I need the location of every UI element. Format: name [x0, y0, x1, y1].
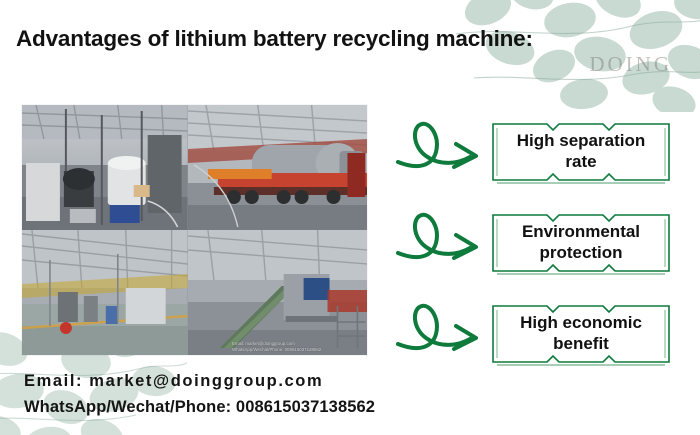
- looped-arrow-icon: [396, 294, 484, 374]
- eucalyptus-leaves-icon: [450, 0, 700, 112]
- advantage-box-high-separation-rate[interactable]: High separation rate: [490, 119, 672, 185]
- doing-watermark: DOING: [589, 52, 672, 77]
- photo-bottom-left: [22, 230, 188, 355]
- advantage-box-environmental-protection[interactable]: Environmental protection: [490, 210, 672, 276]
- advantage-label: High separation rate: [517, 131, 645, 172]
- contact-email: Email: market@doinggroup.com: [24, 372, 375, 391]
- advantage-label-line1: High separation: [517, 131, 645, 150]
- advantage-box-high-economic-benefit[interactable]: High economic benefit: [490, 301, 672, 367]
- contact-phone: WhatsApp/Wechat/Phone: 008615037138562: [24, 398, 375, 417]
- slide-canvas: DOING Advantages of lithium battery recy…: [0, 0, 700, 435]
- contact-block: Email: market@doinggroup.com WhatsApp/We…: [24, 372, 375, 417]
- page-title: Advantages of lithium battery recycling …: [16, 26, 533, 52]
- looped-arrow-icon: [396, 112, 484, 192]
- looped-arrow-icon: [396, 203, 484, 283]
- advantage-label-line2: rate: [565, 152, 596, 171]
- photo-top-right: [188, 105, 367, 230]
- photo-top-left: [22, 105, 188, 230]
- photo-collage: Email: market@doinggroup.com WhatsApp/We…: [22, 105, 367, 355]
- advantage-label-line1: High economic: [520, 313, 642, 332]
- advantage-label: High economic benefit: [520, 313, 642, 354]
- advantage-item-high-separation-rate: High separation rate: [396, 112, 672, 192]
- advantage-label-line1: Environmental: [522, 222, 640, 241]
- advantage-label-line2: protection: [539, 243, 622, 262]
- advantage-item-high-economic-benefit: High economic benefit: [396, 294, 672, 374]
- photo-bottom-right: Email: market@doinggroup.com WhatsApp/We…: [188, 230, 367, 355]
- advantage-label-line2: benefit: [553, 334, 609, 353]
- advantage-item-environmental-protection: Environmental protection: [396, 203, 672, 283]
- advantage-label: Environmental protection: [522, 222, 640, 263]
